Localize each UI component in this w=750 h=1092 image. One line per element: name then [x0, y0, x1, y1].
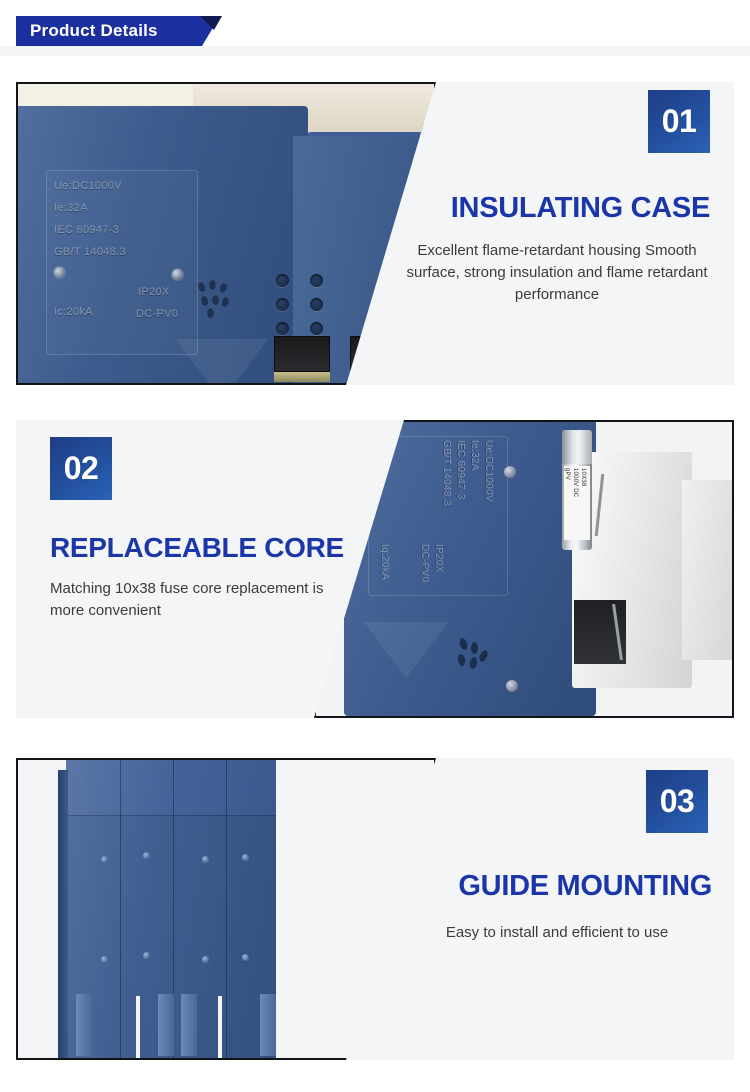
embossed-current: Ie:32A	[54, 202, 88, 214]
embossed-breaking: Iq:20kA	[379, 544, 390, 580]
embossed-standard-iec: IEC 60947-3	[54, 224, 119, 236]
page-title: Product Details	[16, 21, 158, 41]
housing-rear-edge	[58, 770, 68, 1060]
replaceable-core-text-panel: 02 REPLACEABLE CORE Matching 10x38 fuse …	[16, 420, 376, 718]
module-seam	[226, 758, 227, 1060]
step-badge-03: 03	[646, 770, 708, 833]
insulating-case-photo: Ue:DC1000V Ie:32A IEC 60947-3 GB/T 14048…	[16, 82, 436, 385]
embossed-current: Ie:32A	[469, 440, 480, 471]
feature-headline: GUIDE MOUNTING	[458, 870, 712, 903]
replaceable-core-photo: Ue:DC1000V Ie:32A IEC 60947-3 GB/T 14048…	[314, 420, 734, 718]
fuse-end-cap	[562, 430, 592, 464]
product-details-ribbon: Product Details	[16, 16, 220, 46]
embossed-voltage: Ue:DC1000V	[54, 180, 122, 192]
terminal-lip	[274, 372, 330, 382]
vent-holes	[196, 279, 230, 317]
embossed-ingress: IP20X	[138, 286, 169, 298]
feature-description: Excellent flame-retardant housing Smooth…	[404, 240, 710, 306]
feature-headline: REPLACEABLE CORE	[50, 532, 344, 564]
embossed-standard-gb: GB/T 14048.3	[441, 440, 452, 506]
page-header: Product Details	[0, 0, 750, 56]
guide-mounting-text-panel: 03 GUIDE MOUNTING Easy to install and ef…	[404, 758, 734, 1060]
fuse-label-rating: 1000V DC	[572, 468, 578, 497]
guide-slot	[136, 996, 140, 1060]
molding-pin-mark	[202, 956, 209, 963]
step-badge-01: 01	[648, 90, 710, 153]
molding-pin-mark	[143, 952, 150, 959]
molding-pin-mark	[202, 856, 209, 863]
fuse-label-size: 10X38	[580, 468, 586, 486]
din-rail-guide	[158, 994, 174, 1056]
terminal-lip	[350, 372, 406, 382]
warning-triangle-icon	[364, 622, 448, 678]
warning-triangle-icon	[176, 339, 268, 385]
guide-mounting-photo	[16, 758, 436, 1060]
label-plate	[46, 170, 198, 355]
embossed-standard-iec: IEC 60947-3	[455, 440, 466, 499]
feature-card-insulating-case: Ue:DC1000V Ie:32A IEC 60947-3 GB/T 14048…	[16, 82, 734, 385]
module-seam	[120, 758, 121, 1060]
molding-pin-mark	[101, 956, 108, 963]
molding-pin-mark	[242, 854, 249, 861]
molding-pin-mark	[101, 856, 108, 863]
product-details-page: Product Details Ue:DC1000V Ie:32A IEC 60…	[0, 0, 750, 1092]
housing-rear-cap	[66, 758, 276, 816]
molding-pin-mark	[242, 954, 249, 961]
terminal-slot	[350, 336, 406, 372]
screw-icon	[172, 269, 183, 280]
embossed-voltage: Ue:DC1000V	[483, 440, 494, 502]
embossed-application: DC-PV0	[419, 544, 430, 582]
insulating-case-text-panel: 01 INSULATING CASE Excellent flame-retar…	[404, 82, 734, 385]
molding-pin-mark	[143, 852, 150, 859]
embossed-application: DC-PV0	[136, 308, 178, 320]
embossed-standard-gb: GB/T 14048.3	[54, 246, 126, 258]
feature-card-replaceable-core: 02 REPLACEABLE CORE Matching 10x38 fuse …	[16, 420, 734, 718]
din-rail-guide	[260, 994, 276, 1056]
feature-description: Matching 10x38 fuse core replacement is …	[50, 578, 350, 622]
step-badge-02: 02	[50, 437, 112, 500]
guide-slot	[218, 996, 222, 1060]
embossed-breaking: Ic:20kA	[54, 306, 93, 318]
din-rail-guide	[76, 994, 92, 1056]
feature-card-guide-mounting: 03 GUIDE MOUNTING Easy to install and ef…	[16, 758, 734, 1060]
screw-icon	[506, 680, 518, 692]
feature-description: Easy to install and efficient to use	[402, 922, 712, 944]
embossed-ingress: IP20X	[433, 544, 444, 573]
screw-icon	[54, 267, 65, 278]
feature-headline: INSULATING CASE	[451, 192, 710, 225]
vent-holes	[456, 638, 490, 678]
fuse-label-type: gPV	[564, 468, 570, 480]
terminal-slot	[274, 336, 330, 372]
header-divider	[0, 46, 750, 56]
din-rail-guide	[181, 994, 197, 1056]
screw-icon	[504, 466, 516, 478]
carrier-back-shell	[682, 480, 734, 660]
